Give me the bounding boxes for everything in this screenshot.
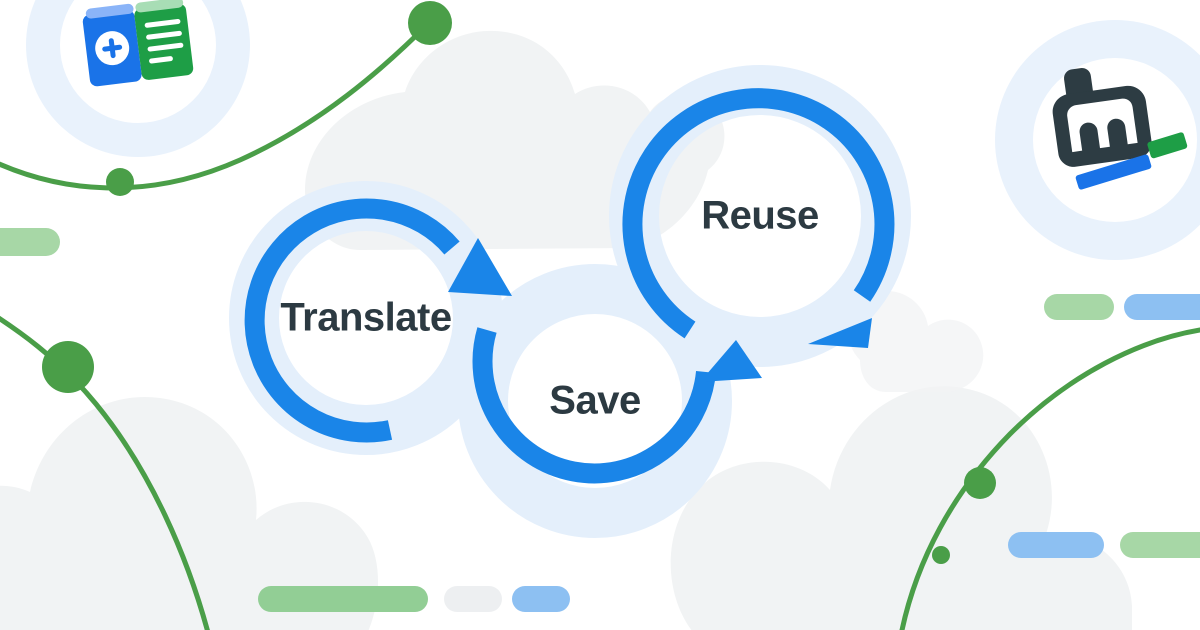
translate-card-icon xyxy=(81,0,194,87)
background-artwork xyxy=(0,0,1200,630)
pill-blue-right xyxy=(1124,294,1200,320)
cloud-bottom-right xyxy=(671,386,1132,630)
node-label-reuse: Reuse xyxy=(701,194,819,239)
pill-green-right xyxy=(1044,294,1114,320)
green-dot-right xyxy=(964,467,996,499)
green-dot-lower-right xyxy=(932,546,950,564)
pill-gray-bottom xyxy=(444,586,502,612)
green-dot-upper-left xyxy=(106,168,134,196)
illustration-canvas: Translate Save Reuse xyxy=(0,0,1200,630)
node-label-translate: Translate xyxy=(280,296,451,341)
pill-green-left xyxy=(0,228,60,256)
green-dot-left xyxy=(42,341,94,393)
card-icon-green-panel xyxy=(134,3,194,81)
pill-green-bottom-long xyxy=(258,586,428,612)
green-dot-top xyxy=(408,1,452,45)
pill-green-bottom-right xyxy=(1120,532,1200,558)
node-label-save: Save xyxy=(549,379,640,424)
pill-blue-bottom-right xyxy=(1008,532,1104,558)
pill-blue-bottom xyxy=(512,586,570,612)
